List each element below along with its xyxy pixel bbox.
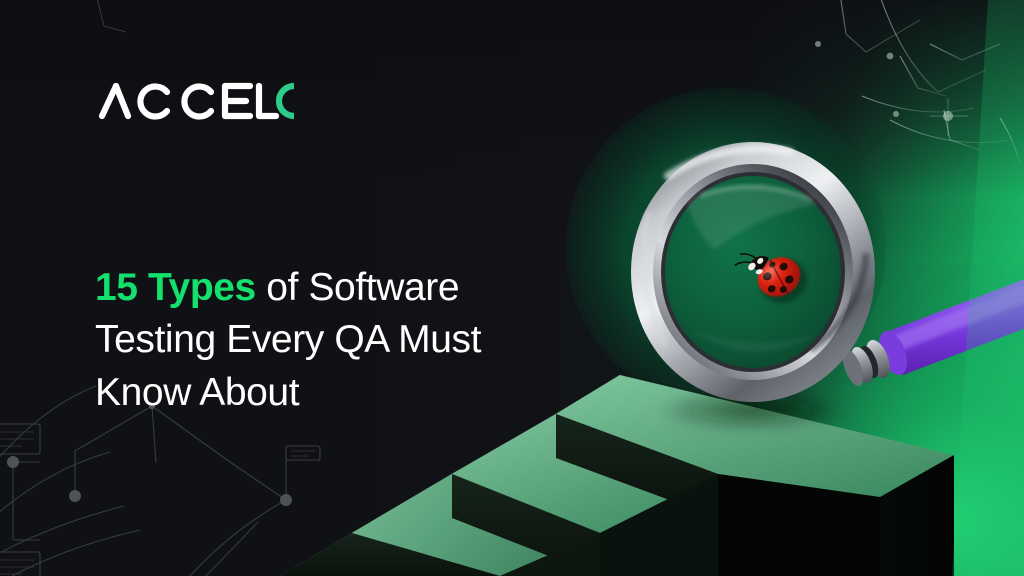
accelq-logo-mark — [98, 79, 294, 123]
accelq-logo[interactable] — [98, 79, 294, 123]
right-edge-green-strip — [952, 0, 1024, 576]
accelq-logo-q — [279, 86, 294, 118]
page-title: 15 Types of Software Testing Every QA Mu… — [95, 262, 615, 419]
magnifying-glass — [631, 142, 875, 402]
headline-line2: Testing Every QA Must — [95, 318, 481, 361]
headline-accent: 15 Types — [95, 266, 256, 309]
banner-hero: 15 Types of Software Testing Every QA Mu… — [0, 0, 1024, 576]
headline-line1-rest: of Software — [256, 266, 459, 309]
headline-line3: Know About — [95, 371, 299, 414]
